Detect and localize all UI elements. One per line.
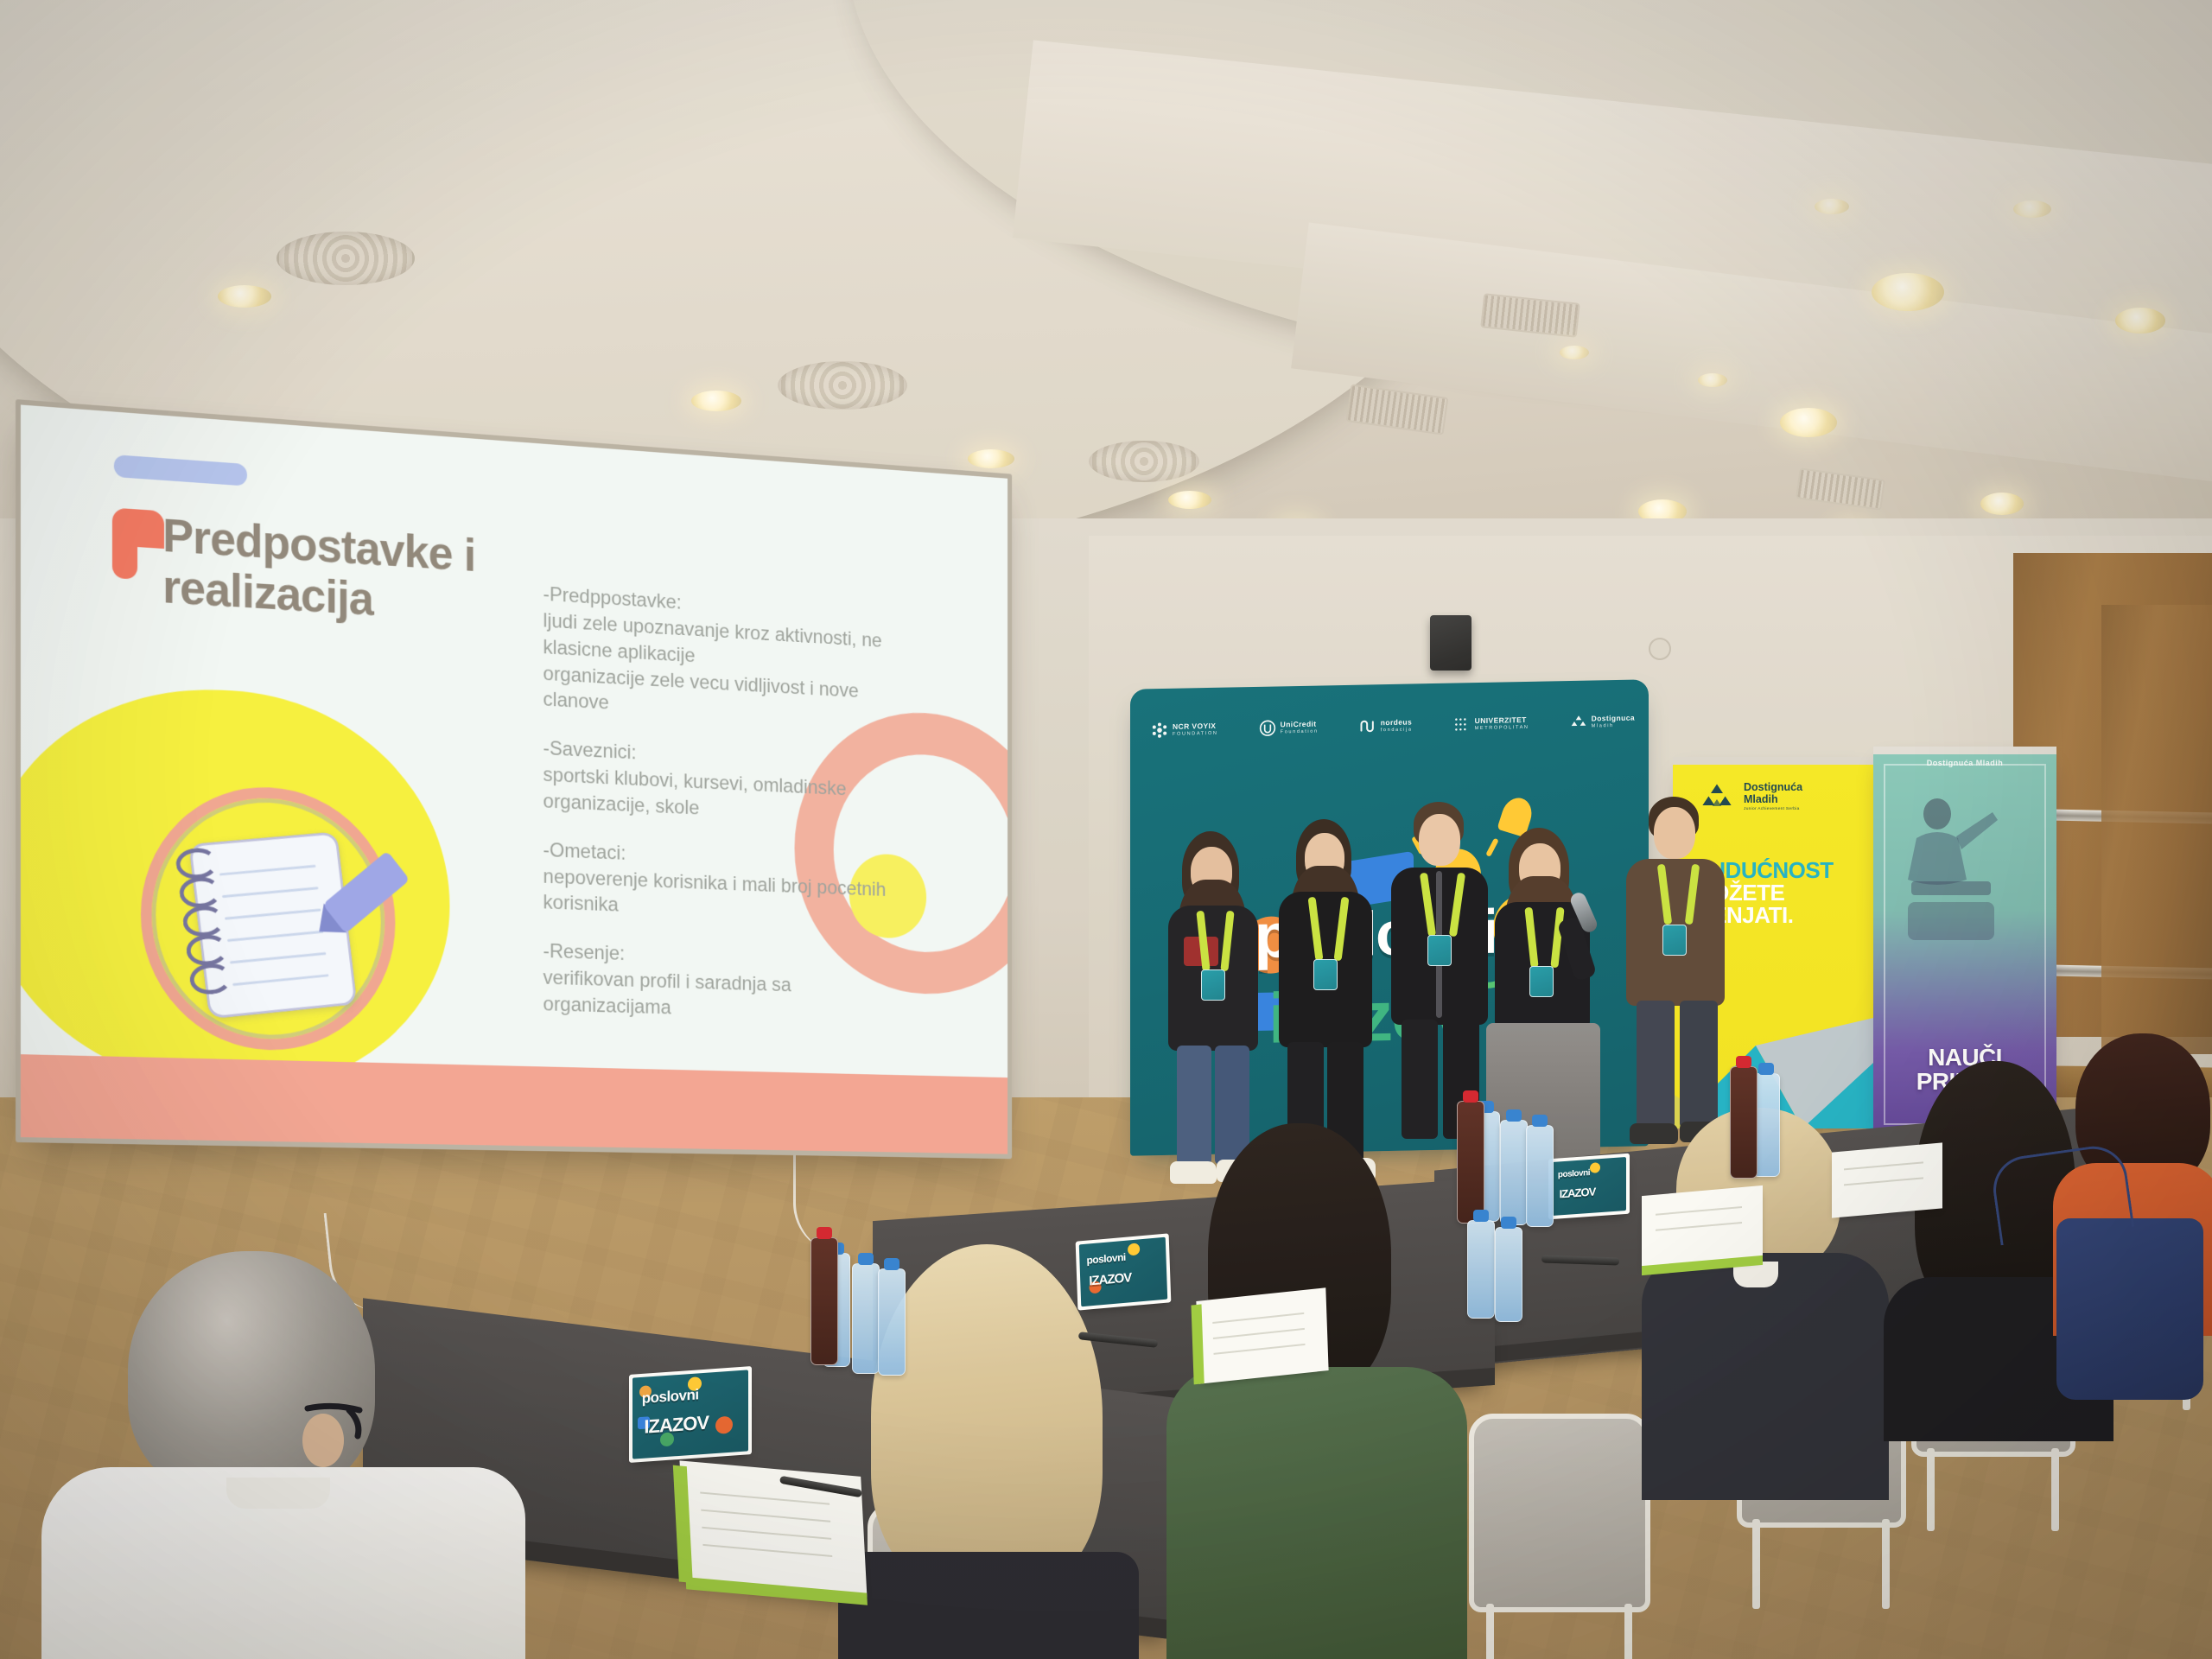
wall-speaker	[1430, 615, 1471, 671]
ceiling-downlight-10	[2115, 308, 2165, 334]
presenter-2-badge	[1313, 959, 1338, 990]
sponsor-logo-unicredit: UniCredit Foundation	[1259, 719, 1319, 737]
water-bottle-6[interactable]	[1526, 1125, 1554, 1227]
chair-3[interactable]	[1469, 1414, 1650, 1659]
sponsor-1-name: UniCredit	[1281, 720, 1317, 729]
slide-bottom-bar	[21, 1054, 1007, 1154]
wall-sensor	[1649, 638, 1671, 660]
tent-card-word-1: poslovni	[642, 1386, 699, 1408]
slide-block-2-heading: -Ometaci:	[543, 839, 626, 865]
tent-sparkle-3	[715, 1416, 733, 1434]
water-bottle-2[interactable]	[852, 1263, 880, 1374]
metropolitan-icon	[1453, 715, 1471, 733]
notepad-center[interactable]	[1196, 1287, 1328, 1383]
rollup-yellow-logo-sub: Junior Achievement Serbia	[1744, 807, 1802, 811]
tent2-word-1: poslovni	[1086, 1250, 1126, 1266]
sponsor-2-sub: fondacija	[1381, 727, 1413, 733]
ceiling-downlight-18	[2013, 200, 2051, 218]
ceiling-downlight-17	[1815, 199, 1849, 214]
sponsor-logo-row: NCR VOYIX FOUNDATION UniCredit Foundatio…	[1151, 713, 1635, 740]
ceiling-spiral-vent-3	[1089, 441, 1199, 482]
ceiling-downlight-9	[1980, 493, 2024, 515]
audience-man-white-shirt	[17, 1251, 536, 1659]
conference-presentation-photo: Predpostavke i realizacija -Predppostavk…	[0, 0, 2212, 1659]
ceiling-downlight-3	[968, 449, 1014, 468]
slide-block-0-text: ljudi zele upoznavanje kroz aktivnosti, …	[543, 609, 882, 714]
sponsor-3-sub: METROPOLITAN	[1475, 725, 1529, 731]
ceiling-air-vent-3	[1796, 467, 1885, 511]
water-bottle-8[interactable]	[1467, 1220, 1495, 1319]
sponsor-0-name: NCR VOYIX	[1173, 721, 1216, 731]
room: Predpostavke i realizacija -Predppostavk…	[0, 0, 2212, 1659]
ncr-voyix-icon	[1151, 721, 1168, 739]
dostignuca-mladih-icon	[1570, 714, 1587, 731]
rollup-purple-cap	[1873, 747, 2056, 754]
rollup-purple-logo: Dostignuća Mladih	[1927, 759, 2004, 767]
slide-block-1-text: sportski klubovi, kursevi, omladinske or…	[543, 764, 847, 819]
ceiling-spiral-vent-2	[778, 361, 907, 410]
slide-block-2: -Ometaci: nepoverenje korisnika i mali b…	[543, 837, 902, 929]
rollup-yellow-cap	[1673, 757, 1873, 765]
audience-blonde-hair	[871, 1244, 1103, 1590]
sponsor-0-sub: FOUNDATION	[1173, 730, 1218, 736]
audience-man-hair	[128, 1251, 375, 1500]
presentation-slide: Predpostavke i realizacija -Predppostavk…	[21, 404, 1007, 1154]
sponsor-logo-ncr-voyix: NCR VOYIX FOUNDATION	[1151, 721, 1218, 739]
slide-block-0-heading: -Predppostavke:	[543, 583, 682, 614]
tent3-word-2: IZAZOV	[1560, 1185, 1596, 1200]
cola-bottle-1[interactable]	[810, 1237, 838, 1365]
water-bottle-3[interactable]	[878, 1268, 906, 1376]
presenter-5-head	[1654, 807, 1695, 859]
presenter-3-leg-left	[1402, 1020, 1438, 1139]
ceiling-downlight-4	[1168, 491, 1211, 509]
glasses-icon	[304, 1398, 373, 1441]
slide-block-3: -Resenje: verifikovan profil i saradnja …	[543, 938, 902, 1027]
tent2-sparkle-1	[1128, 1243, 1140, 1255]
screen-surface: Predpostavke i realizacija -Predppostavk…	[21, 404, 1007, 1154]
slide-title: Predpostavke i realizacija	[162, 509, 512, 632]
sponsor-4-sub: Mladih	[1592, 722, 1635, 728]
cola-bottle-3[interactable]	[1730, 1066, 1758, 1179]
ceiling-downlight-1	[218, 285, 271, 308]
presenter-5	[1614, 797, 1740, 1160]
sponsor-logo-metropolitan: UNIVERZITET METROPOLITAN	[1453, 715, 1529, 734]
sponsor-2-name: nordeus	[1381, 718, 1412, 728]
water-bottle-9[interactable]	[1495, 1227, 1522, 1322]
sponsor-1-sub: Foundation	[1281, 728, 1319, 734]
sponsor-logo-dostignuca-mladih: Dostignuca Mladih	[1570, 713, 1635, 731]
table-tent-card-front[interactable]: poslovni IZAZOV	[629, 1366, 752, 1463]
audience-woman-green	[1166, 1123, 1478, 1659]
quote-mark-icon	[112, 508, 164, 580]
tent-card-word-2: IZAZOV	[644, 1412, 709, 1439]
slide-block-3-text: verifikovan profil i saradnja sa organiz…	[543, 967, 791, 1020]
slide-block-0: -Predppostavke: ljudi zele upoznavanje k…	[543, 582, 902, 732]
slide-block-3-heading: -Resenje:	[543, 940, 626, 965]
cola-bottle-2[interactable]	[1457, 1101, 1484, 1224]
ceiling-spiral-vent-1	[276, 232, 415, 285]
slide-body: -Predppostavke: ljudi zele upoznavanje k…	[543, 582, 902, 1050]
audience-man-collar	[226, 1478, 330, 1509]
notepad-front[interactable]	[679, 1460, 867, 1598]
presenter-3-head	[1419, 814, 1460, 866]
tent3-word-1: poslovni	[1558, 1168, 1590, 1180]
notepad-far-right[interactable]	[1832, 1142, 1942, 1217]
table-tent-card-center[interactable]: poslovni IZAZOV	[1076, 1233, 1172, 1310]
audience-bob-torso	[1642, 1253, 1889, 1500]
presenter-3-badge	[1427, 935, 1452, 966]
audience-green-torso	[1166, 1367, 1467, 1659]
audience-blonde-torso	[838, 1552, 1139, 1659]
slide-blue-accent-bar	[114, 454, 247, 486]
tent3-sparkle-1	[1590, 1162, 1600, 1173]
sponsor-logo-nordeus: nordeus fondacija	[1359, 716, 1413, 734]
ceiling-air-vent-1	[1345, 384, 1448, 435]
slide-block-1-heading: -Saveznici:	[543, 737, 637, 764]
notepad-right[interactable]	[1642, 1185, 1763, 1270]
table-tent-card-right[interactable]: poslovni IZAZOV	[1548, 1154, 1630, 1220]
sponsor-3-name: UNIVERZITET	[1475, 715, 1527, 725]
ceiling-downlight-16	[1698, 373, 1727, 387]
unicredit-icon	[1259, 720, 1276, 737]
rollup-purple-photo-figure	[1899, 791, 2003, 956]
water-bottle-5[interactable]	[1500, 1120, 1528, 1225]
ceiling-downlight-7	[1780, 408, 1837, 437]
tent2-word-2: IZAZOV	[1089, 1270, 1132, 1288]
presenter-1-badge	[1201, 969, 1225, 1001]
slide-block-2-text: nepoverenje korisnika i mali broj pocetn…	[543, 865, 887, 917]
rollup-yellow-logo-title2: Mladih	[1744, 793, 1778, 805]
projection-screen: Predpostavke i realizacija -Predppostavk…	[16, 399, 1012, 1159]
ceiling-downlight-15	[1560, 346, 1589, 359]
presenter-4-badge	[1529, 966, 1554, 997]
wood-wall-panel-far-right	[2101, 605, 2212, 1054]
slide-block-1: -Saveznici: sportski klubovi, kursevi, o…	[543, 735, 902, 830]
rollup-yellow-logo-title: Dostignuća	[1744, 781, 1802, 793]
presenter-5-badge	[1662, 925, 1687, 956]
nordeus-icon	[1359, 717, 1376, 734]
sponsor-4-name: Dostignuca	[1592, 714, 1635, 723]
handbag[interactable]	[2056, 1218, 2203, 1400]
ceiling-downlight-2	[691, 391, 741, 411]
ceiling-downlight-6	[1872, 273, 1944, 311]
